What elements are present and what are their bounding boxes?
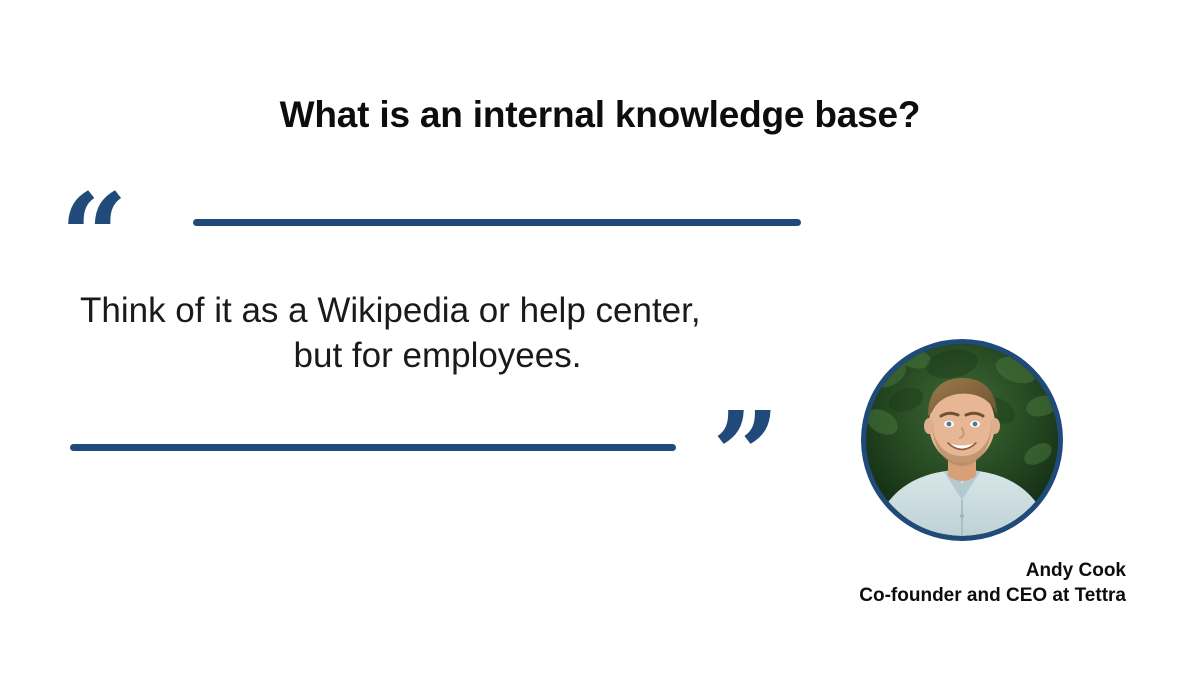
attribution-role: Co-founder and CEO at Tettra <box>726 583 1126 608</box>
quote-line-1: Think of it as a Wikipedia or help cente… <box>60 288 815 333</box>
quote-line-2: but for employees. <box>60 333 815 378</box>
avatar <box>861 339 1063 541</box>
attribution: Andy Cook Co-founder and CEO at Tettra <box>726 558 1126 608</box>
close-quote-icon: ” <box>712 396 780 514</box>
quote-text: Think of it as a Wikipedia or help cente… <box>60 288 815 378</box>
open-quote-icon: “ <box>60 178 128 296</box>
avatar-portrait-illustration <box>866 344 1058 536</box>
quote-divider-top <box>193 219 801 226</box>
avatar-photo <box>866 344 1058 536</box>
quote-card: What is an internal knowledge base? “ Th… <box>0 0 1200 700</box>
attribution-name: Andy Cook <box>726 558 1126 583</box>
quote-divider-bottom <box>70 444 676 451</box>
